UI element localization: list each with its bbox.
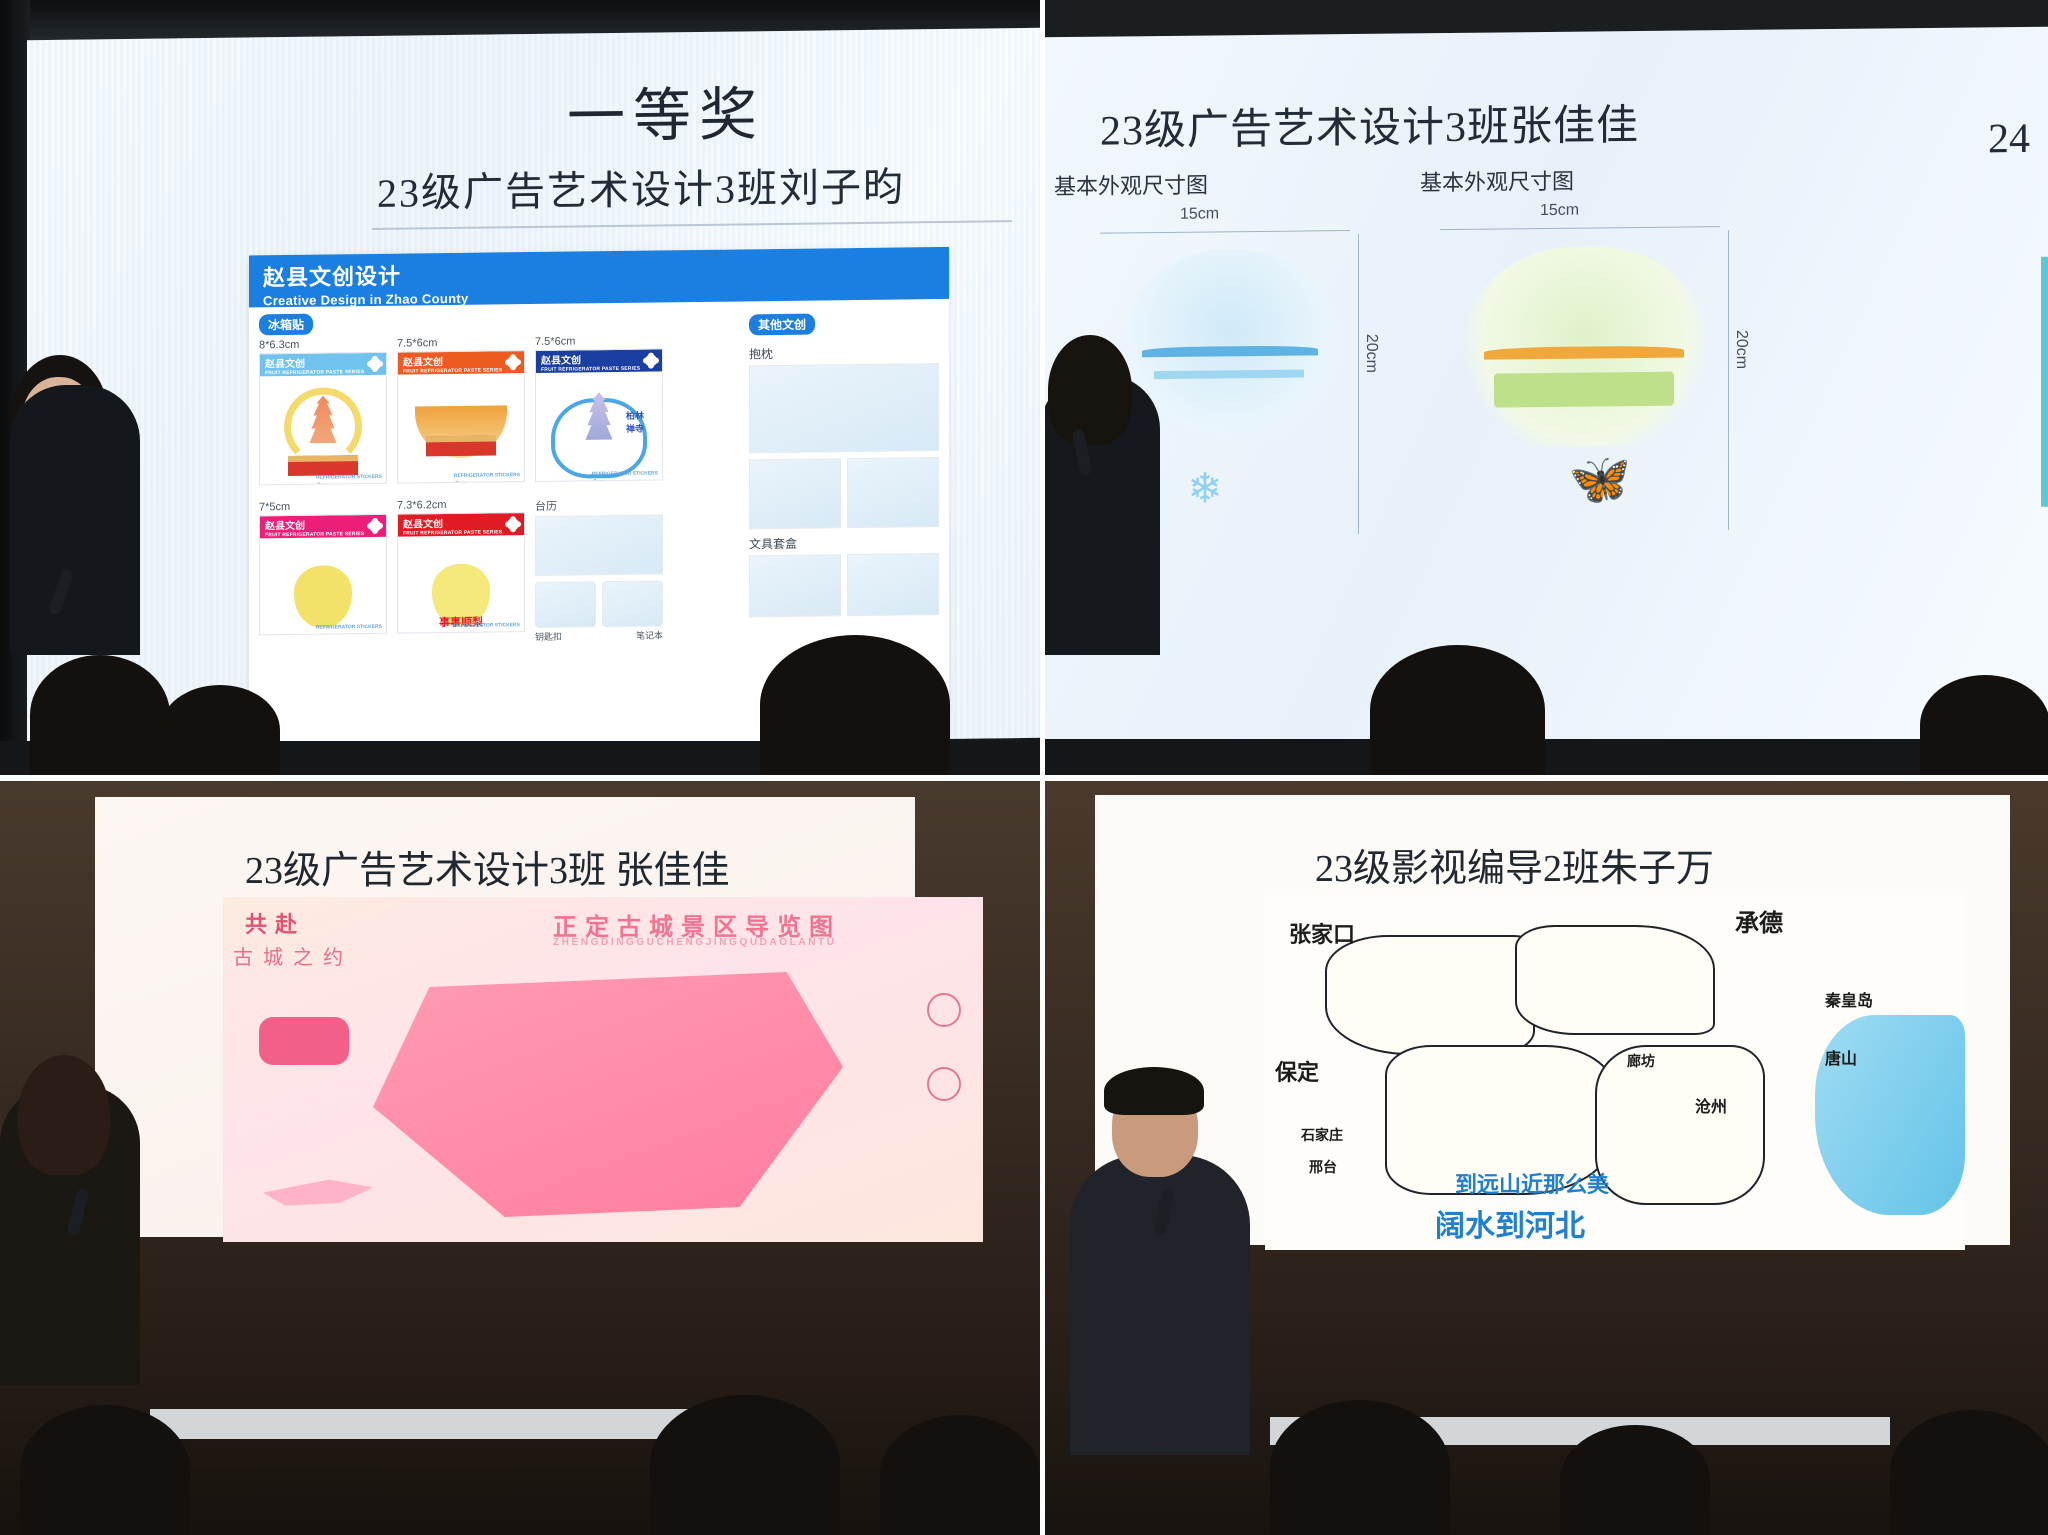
tour-bus-icon xyxy=(259,1017,349,1065)
panel2-title: 23级广告艺术设计3班张佳佳 xyxy=(1100,91,1639,158)
map-label-tangshan: 唐山 xyxy=(1825,1045,1857,1069)
zhengding-tour-map: 共赴 古城之约 正定古城景区导览图 ZHENGDINGGUCHENGJINGQU… xyxy=(223,897,983,1242)
left-width-dimline xyxy=(1100,230,1350,234)
pillow-photo xyxy=(749,363,939,453)
hebei-hand-drawn-map: 张家口 承德 秦皇岛 唐山 保定 廊坊 沧州 石家庄 邢台 到远山近那么美 阔水… xyxy=(1265,895,1965,1250)
product-card: 7.3*6.2cm 赵县文创 FRUIT REFRIGERATOR PASTE … xyxy=(397,498,525,645)
poster-sheet: 赵县文创设计 Creative Design in Zhao County 冰箱… xyxy=(249,247,949,764)
card-box: 赵县文创 FRUIT REFRIGERATOR PASTE SERIES REF… xyxy=(397,350,525,484)
presenter-hair-3 xyxy=(18,1055,110,1175)
keychain-row xyxy=(535,580,663,628)
photo-collage: 一等奖 23级广告艺术设计3班刘子昀 赵县文创设计 Creative Desig… xyxy=(0,0,2048,1535)
lecture-desk xyxy=(150,1409,710,1439)
card-box: 赵县文创 FRUIT REFRIGERATOR PASTE SERIES 事事顺… xyxy=(397,512,525,634)
card-size-label: 7*5cm xyxy=(259,500,387,514)
map-label-baoding: 保定 xyxy=(1275,1055,1319,1087)
notebook-label: 笔记本 xyxy=(636,628,663,641)
card-size-label: 7.3*6.2cm xyxy=(397,498,525,512)
pillow-label: 抱枕 xyxy=(749,343,939,362)
left-spec-caption: 基本外观尺寸图 xyxy=(1054,168,1208,202)
card-footnote: REFRIGERATOR STICKERS xyxy=(316,624,382,631)
map-slogan-1: 到远山近那么美 xyxy=(1455,1167,1609,1199)
province-region-cangzhou xyxy=(1595,1045,1765,1205)
presenter-body xyxy=(10,385,140,655)
province-region-zhangjiakou xyxy=(1325,935,1535,1055)
right-width-label: 15cm xyxy=(1540,202,1579,220)
stationery-photo-row xyxy=(749,553,939,617)
right-height-label: 20cm xyxy=(1732,330,1750,369)
flower-icon xyxy=(507,356,519,368)
right-height-dimline xyxy=(1728,230,1729,530)
card-artwork: 事事顺梨 xyxy=(398,535,524,633)
airplane-icon xyxy=(263,1164,373,1216)
tote-photo-row xyxy=(749,457,939,529)
keychain-label: 钥匙扣 xyxy=(535,630,562,643)
map-tagline-1: 共赴 xyxy=(245,907,305,939)
calendar-card: 台历 钥匙扣 笔记本 xyxy=(535,496,663,643)
map-label-zhangjiakou: 张家口 xyxy=(1289,917,1355,949)
card-size-label: 7.5*6cm xyxy=(535,334,663,348)
section-chip-other: 其他文创 xyxy=(749,314,815,336)
panel2-edge-number: 24 xyxy=(1988,115,2030,163)
stationery-photo-1 xyxy=(749,554,841,617)
map-label-langfang: 廊坊 xyxy=(1627,1051,1655,1071)
flower-icon xyxy=(369,520,381,532)
tote-photo-1 xyxy=(749,458,841,529)
card-brand-zh: 赵县文创 xyxy=(403,357,443,368)
card-footnote: REFRIGERATOR STICKERS xyxy=(454,472,520,479)
product-card: 7.5*6cm 赵县文创 FRUIT REFRIGERATOR PASTE SE… xyxy=(535,334,663,482)
left-width-label: 15cm xyxy=(1180,205,1219,223)
map-label-qinhuangdao: 秦皇岛 xyxy=(1825,987,1873,1011)
map-tagline-2: 古城之约 xyxy=(233,941,353,970)
card-artwork: 柏林禅寺 xyxy=(536,371,662,481)
card-brand-zh: 赵县文创 xyxy=(403,519,443,530)
temple-base-shape xyxy=(288,455,358,476)
presenter-line: 23级广告艺术设计3班刘子昀 xyxy=(377,154,905,218)
panel-bottom-right: 23级影视编导2班朱子万 张家口 承德 秦皇岛 唐山 保定 廊坊 沧州 石家庄 … xyxy=(1040,775,2048,1535)
pear-mascot-shape xyxy=(294,565,352,628)
calendar-photo xyxy=(535,514,663,576)
panel-top-left: 一等奖 23级广告艺术设计3班刘子昀 赵县文创设计 Creative Desig… xyxy=(0,0,1040,775)
screen-scanlines xyxy=(1040,27,2048,38)
card-brand-zh: 赵县文创 xyxy=(265,520,305,531)
map-label-cangzhou: 沧州 xyxy=(1695,1093,1727,1117)
right-spec-caption: 基本外观尺寸图 xyxy=(1420,164,1574,198)
card-header: 赵县文创 FRUIT REFRIGERATOR PASTE SERIES xyxy=(260,353,386,377)
presenter-hair-4 xyxy=(1104,1067,1204,1115)
flower-icon xyxy=(645,354,657,366)
panel-top-right: 23级广告艺术设计3班张佳佳 24 基本外观尺寸图 基本外观尺寸图 15cm 2… xyxy=(1040,0,2048,775)
product-card: 8*6.3cm 赵县文创 FRUIT REFRIGERATOR PASTE SE… xyxy=(259,338,387,486)
lecture-desk xyxy=(1270,1417,1890,1445)
left-height-label: 20cm xyxy=(1362,334,1380,373)
product-card: 7.5*6cm 赵县文创 FRUIT REFRIGERATOR PASTE SE… xyxy=(397,336,525,484)
collage-divider-horizontal xyxy=(0,775,2048,781)
card-brand-zh: 赵县文创 xyxy=(265,358,305,369)
map-pink-landmass xyxy=(373,967,843,1217)
presenter-hair-2 xyxy=(1048,335,1132,445)
card-header: 赵县文创 FRUIT REFRIGERATOR PASTE SERIES xyxy=(398,351,524,375)
left-height-dimline xyxy=(1358,234,1359,534)
award-title: 一等奖 xyxy=(567,67,765,153)
card-box: 赵县文创 FRUIT REFRIGERATOR PASTE SERIES REF… xyxy=(259,352,387,486)
keychain-photo xyxy=(535,581,596,628)
lower-wall-2 xyxy=(1040,739,2048,775)
temple-base-shape xyxy=(426,435,496,456)
card-footnote: REFRIGERATOR STICKERS xyxy=(454,622,520,629)
collage-divider-vertical xyxy=(1040,0,1045,1535)
tote-photo-2 xyxy=(847,457,939,528)
snowflake-icon: ❄ xyxy=(1182,465,1228,511)
map-pinyin: ZHENGDINGGUCHENGJINGQUDAOLANTU xyxy=(553,937,837,948)
projection-screen-2: 23级广告艺术设计3班张佳佳 24 基本外观尺寸图 基本外观尺寸图 15cm 2… xyxy=(1040,27,2048,750)
butterfly-icon: 🦋 xyxy=(1560,451,1640,508)
card-artwork xyxy=(260,537,386,635)
card-header: 赵县文创 FRUIT REFRIGERATOR PASTE SERIES xyxy=(260,515,386,539)
section-chip-fridge: 冰箱贴 xyxy=(259,314,313,336)
map-label-shijiazhuang: 石家庄 xyxy=(1301,1125,1343,1145)
province-region-chengde xyxy=(1515,925,1715,1035)
card-footnote: REFRIGERATOR STICKERS xyxy=(316,474,382,481)
card-size-label: 7.5*6cm xyxy=(397,336,525,350)
projection-screen-3: 23级广告艺术设计3班 张佳佳 共赴 古城之约 正定古城景区导览图 ZHENGD… xyxy=(95,797,915,1237)
flower-icon xyxy=(369,358,381,370)
card-box: 赵县文创 FRUIT REFRIGERATOR PASTE SERIES REF… xyxy=(259,514,387,636)
card-art-text: 柏林禅寺 xyxy=(626,410,648,436)
map-marker-icon xyxy=(927,1067,961,1101)
panel-bottom-left: 23级广告艺术设计3班 张佳佳 共赴 古城之约 正定古城景区导览图 ZHENGD… xyxy=(0,775,1040,1535)
lower-wall-1 xyxy=(0,741,1040,775)
projection-screen-1: 一等奖 23级广告艺术设计3班刘子昀 赵县文创设计 Creative Desig… xyxy=(27,28,1040,750)
poster-banner: 赵县文创设计 Creative Design in Zhao County xyxy=(249,247,949,308)
map-marker-icon xyxy=(927,993,961,1027)
flower-icon xyxy=(507,518,519,530)
map-label-xingtai: 邢台 xyxy=(1309,1157,1337,1177)
map-label-chengde: 承德 xyxy=(1735,903,1783,938)
panel3-title: 23级广告艺术设计3班 张佳佳 xyxy=(245,839,730,894)
keychain-notebook-labels: 钥匙扣 笔记本 xyxy=(535,628,663,643)
calendar-label: 台历 xyxy=(535,496,663,514)
card-header: 赵县文创 FRUIT REFRIGERATOR PASTE SERIES xyxy=(536,349,662,373)
card-brand-zh: 赵县文创 xyxy=(541,355,581,366)
product-card: 7*5cm 赵县文创 FRUIT REFRIGERATOR PASTE SERI… xyxy=(259,500,387,647)
panel4-title: 23级影视编导2班朱子万 xyxy=(1315,837,1714,892)
keychain-photo-2 xyxy=(602,580,663,627)
other-products-column: 其他文创 抱枕 文具套盒 xyxy=(749,305,939,617)
map-slogan-2: 阔水到河北 xyxy=(1435,1201,1585,1245)
card-artwork xyxy=(398,373,524,483)
card-box: 赵县文创 FRUIT REFRIGERATOR PASTE SERIES 柏林禅… xyxy=(535,348,663,482)
right-artwork-spring-garden xyxy=(1460,245,1710,448)
card-size-label: 8*6.3cm xyxy=(259,338,387,352)
right-width-dimline xyxy=(1440,226,1720,230)
stationery-photo-2 xyxy=(847,553,939,616)
card-header: 赵县文创 FRUIT REFRIGERATOR PASTE SERIES xyxy=(398,513,524,537)
right-accent-bar xyxy=(2041,257,2048,507)
card-artwork xyxy=(260,375,386,485)
stationery-set-label: 文具套盒 xyxy=(749,533,939,552)
card-footnote: REFRIGERATOR STICKERS xyxy=(592,470,658,477)
